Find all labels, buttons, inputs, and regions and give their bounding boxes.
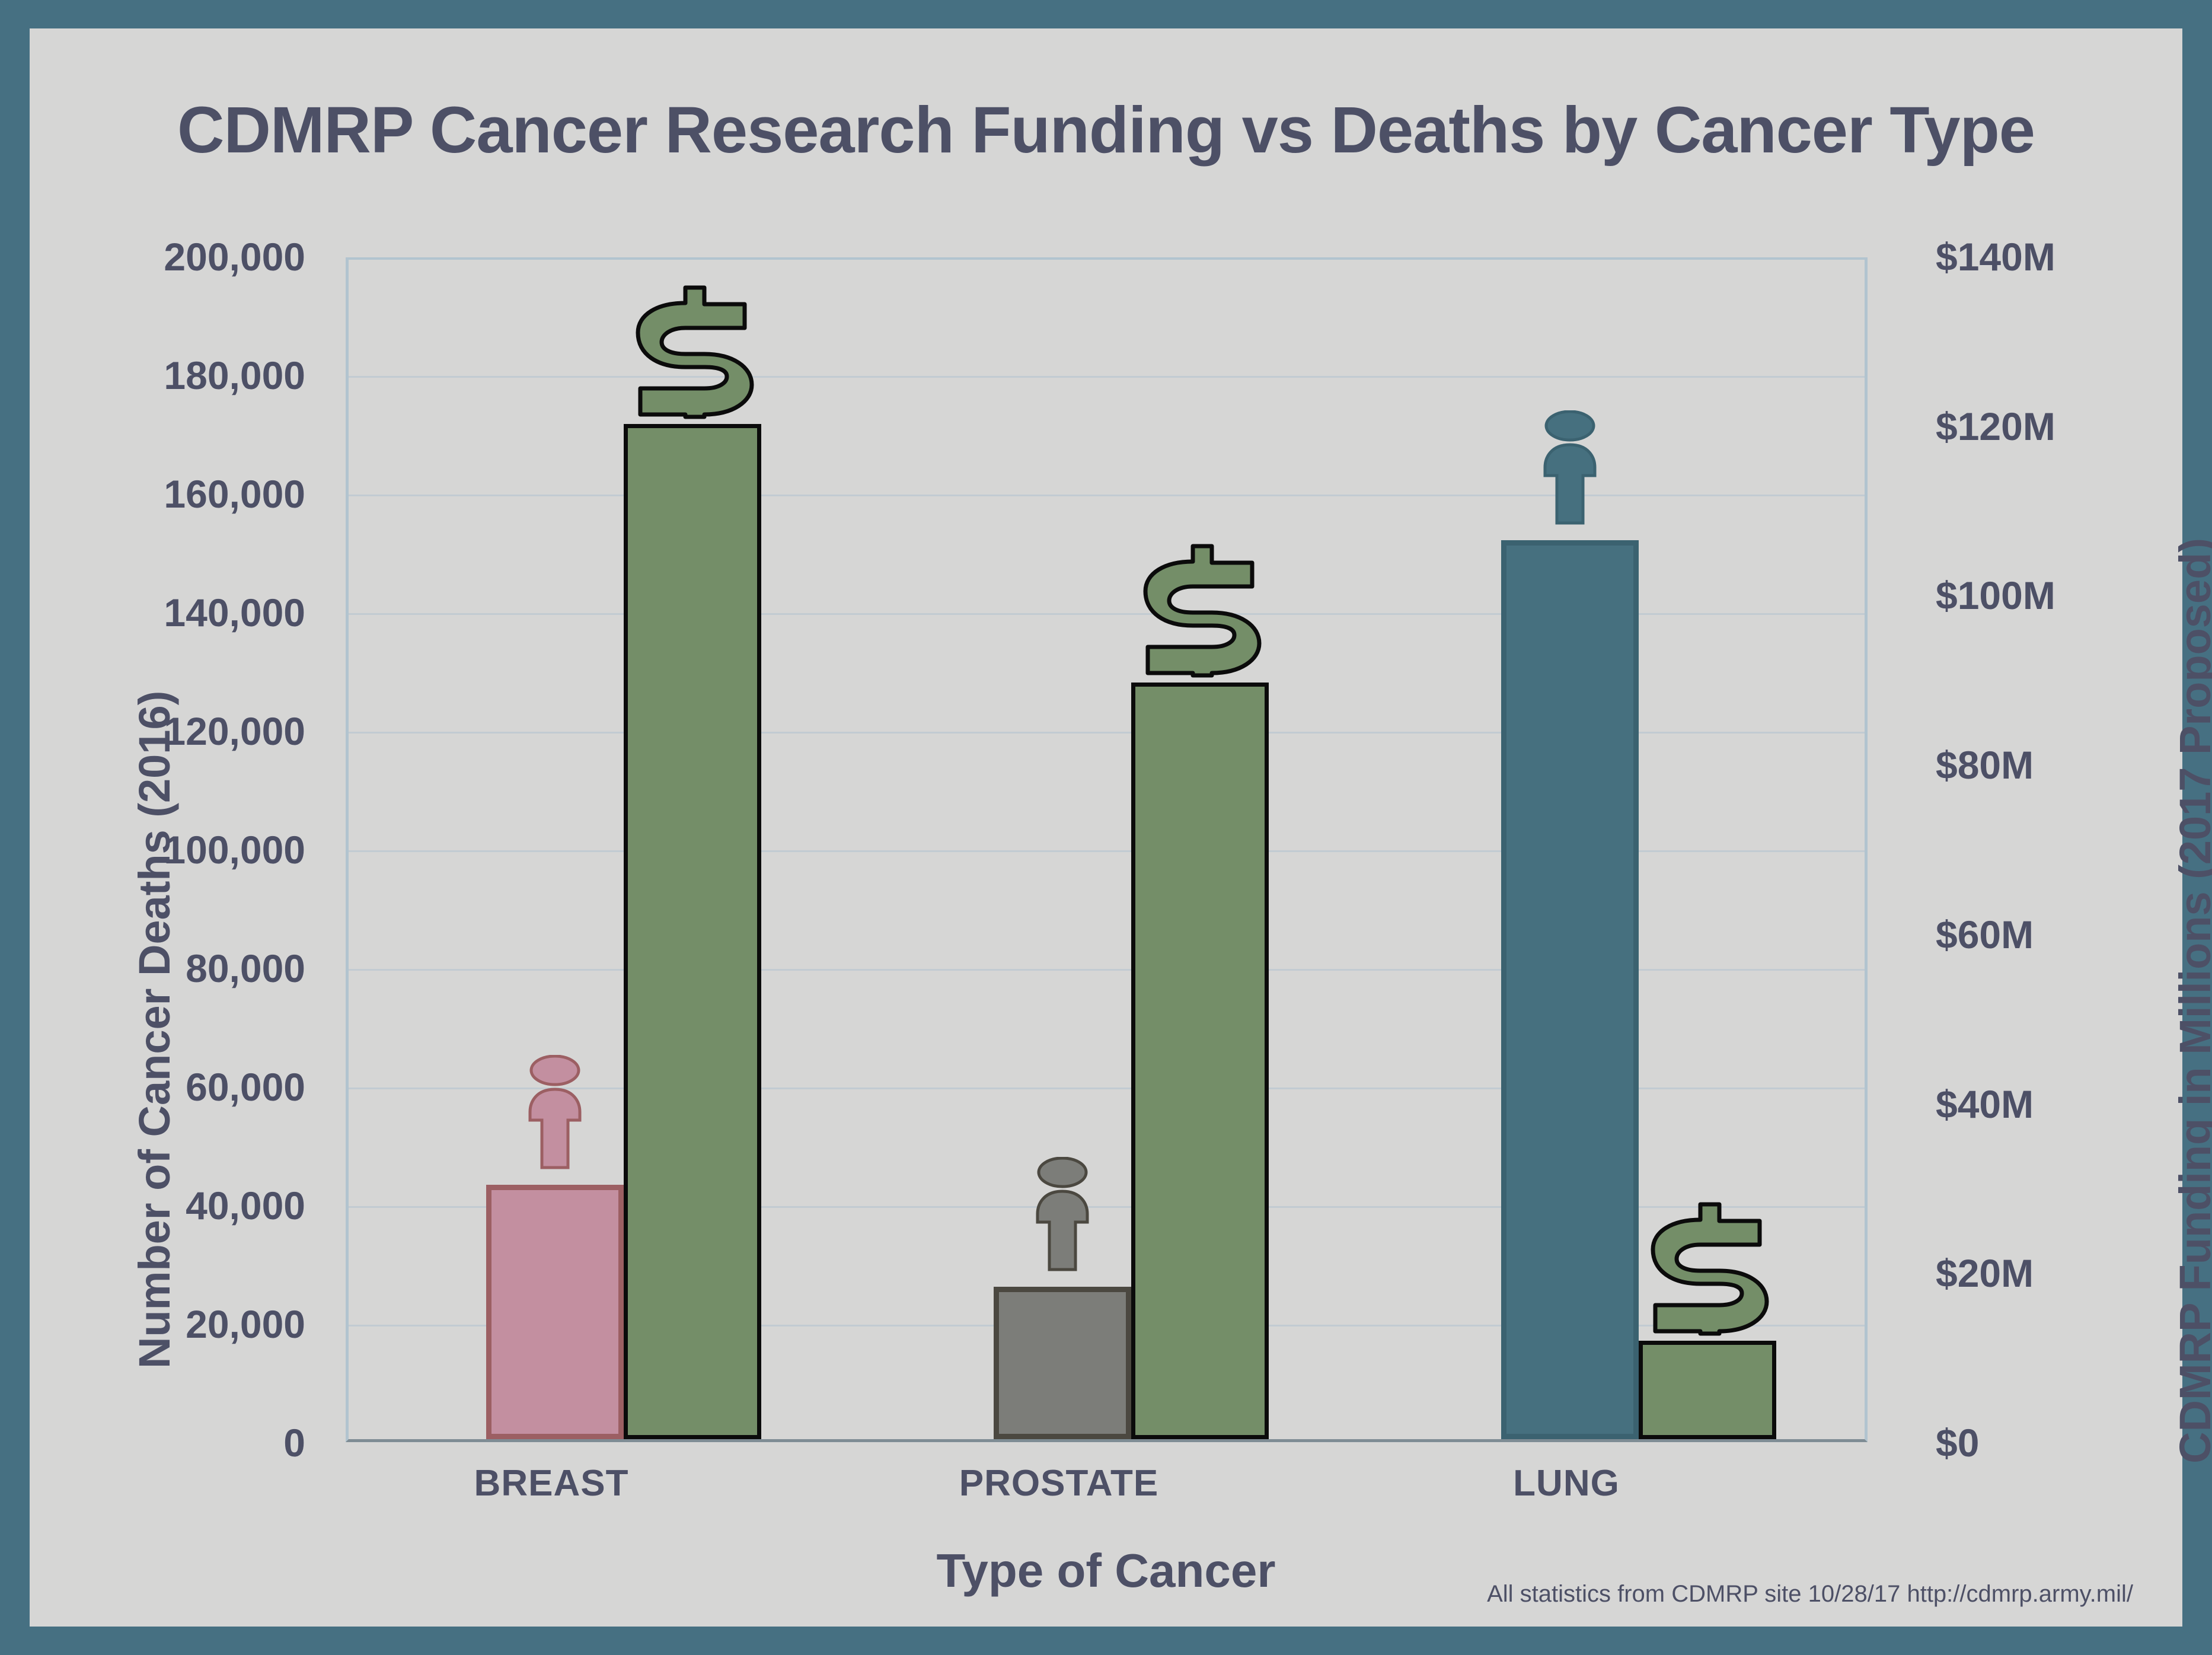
y-tick-right-140: $140M bbox=[1936, 237, 2055, 276]
x-tick-lung: LUNG bbox=[1429, 1462, 1703, 1504]
y-tick-right-80: $80M bbox=[1936, 745, 2034, 785]
dollar-icon-lung bbox=[1643, 1201, 1771, 1337]
x-tick-breast: BREAST bbox=[414, 1462, 688, 1504]
y-tick-left-20000: 20,000 bbox=[186, 1305, 305, 1344]
gridline-180000 bbox=[349, 376, 1865, 378]
y-tick-right-120: $120M bbox=[1936, 407, 2055, 446]
bar-prostate-deaths[interactable] bbox=[994, 1287, 1131, 1439]
person-icon-lung bbox=[1541, 410, 1598, 536]
y-axis-right-title: CDMRP Funding in Millions (2017 Proposed… bbox=[2170, 538, 2212, 1463]
y-tick-right-100: $100M bbox=[1936, 576, 2055, 615]
bar-prostate-funding[interactable] bbox=[1131, 683, 1269, 1439]
person-icon-prostate bbox=[1034, 1157, 1091, 1283]
page-title: CDMRP Cancer Research Funding vs Deaths … bbox=[30, 93, 2182, 168]
bar-breast-deaths[interactable] bbox=[486, 1185, 624, 1439]
y-axis-left-title: Number of Cancer Deaths (2016) bbox=[129, 691, 180, 1369]
x-tick-prostate: PROSTATE bbox=[922, 1462, 1196, 1504]
y-tick-left-140000: 140,000 bbox=[164, 593, 305, 632]
dollar-icon-prostate bbox=[1136, 543, 1264, 679]
bar-lung-funding[interactable] bbox=[1639, 1341, 1776, 1439]
y-tick-left-120000: 120,000 bbox=[164, 712, 305, 751]
bar-breast-funding[interactable] bbox=[624, 424, 761, 1439]
y-tick-left-200000: 200,000 bbox=[164, 237, 305, 276]
gridline-160000 bbox=[349, 495, 1865, 496]
y-tick-left-160000: 160,000 bbox=[164, 474, 305, 514]
y-tick-left-100000: 100,000 bbox=[164, 830, 305, 869]
dollar-icon-breast bbox=[628, 284, 757, 420]
y-tick-right-0: $0 bbox=[1936, 1423, 1979, 1462]
y-tick-right-20: $20M bbox=[1936, 1254, 2034, 1293]
chart-frame: CDMRP Cancer Research Funding vs Deaths … bbox=[30, 28, 2182, 1627]
bar-lung-deaths[interactable] bbox=[1501, 540, 1639, 1439]
y-tick-left-80000: 80,000 bbox=[186, 949, 305, 988]
source-note: All statistics from CDMRP site 10/28/17 … bbox=[1487, 1581, 2133, 1608]
y-tick-right-60: $60M bbox=[1936, 915, 2034, 954]
person-icon-breast bbox=[526, 1055, 583, 1181]
y-tick-left-60000: 60,000 bbox=[186, 1067, 305, 1106]
y-tick-left-40000: 40,000 bbox=[186, 1186, 305, 1225]
y-tick-left-180000: 180,000 bbox=[164, 356, 305, 395]
y-tick-right-40: $40M bbox=[1936, 1085, 2034, 1124]
plot-area bbox=[346, 257, 1868, 1442]
y-tick-left-0: 0 bbox=[283, 1423, 305, 1462]
